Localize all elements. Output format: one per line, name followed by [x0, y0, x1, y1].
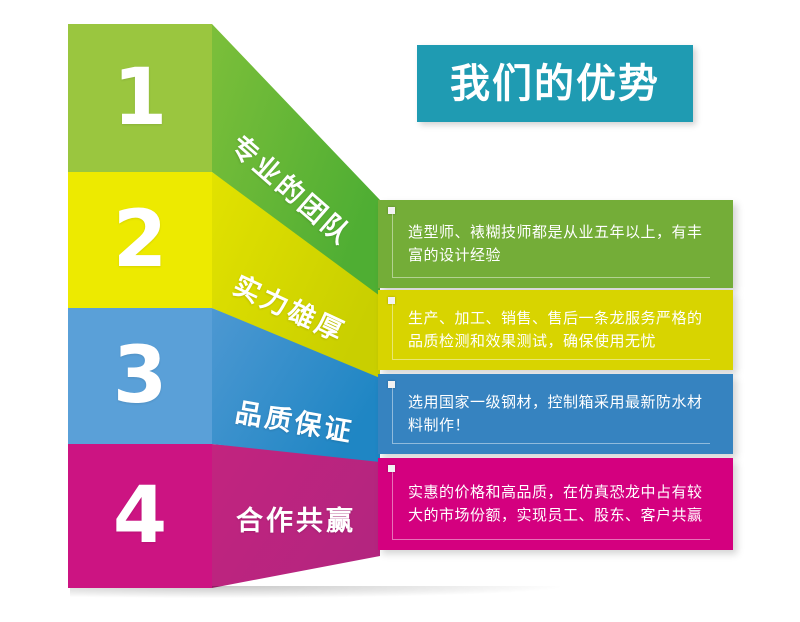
info-box-2[interactable]: 生产、加工、销售、售后一条龙服务严格的品质检测和效果测试，确保使用无忧 [378, 290, 733, 370]
page-title: 我们的优势 [450, 64, 660, 104]
step-number-1: 1 [113, 59, 167, 137]
ribbon-caption-1: 专业的团队 [223, 125, 362, 253]
info-box-3[interactable]: 选用国家一级钢材，控制箱采用最新防水材料制作！ [378, 374, 733, 454]
step-block-4[interactable]: 4 [68, 444, 212, 588]
step-block-1[interactable]: 1 [68, 24, 212, 172]
bullet-dot-icon [388, 381, 395, 388]
title-banner: 我们的优势 [417, 45, 693, 122]
step-block-3[interactable]: 3 [68, 308, 212, 444]
step-number-3: 3 [113, 337, 167, 415]
info-box-1[interactable]: 造型师、裱糊技师都是从业五年以上，有丰富的设计经验 [378, 200, 733, 288]
ribbon-caption-4: 合作共赢 [236, 499, 356, 538]
step-number-2: 2 [113, 201, 167, 279]
info-box-4[interactable]: 实惠的价格和高品质，在仿真恐龙中占有较大的市场份额，实现员工、股东、客户共赢 [378, 458, 733, 550]
ribbon-caption-3: 品质保证 [233, 390, 358, 449]
bullet-dot-icon [388, 465, 395, 472]
info-text-2: 生产、加工、销售、售后一条龙服务严格的品质检测和效果测试，确保使用无忧 [408, 307, 711, 354]
step-number-4: 4 [113, 477, 167, 555]
ribbon-caption-2: 实力雄厚 [228, 264, 353, 350]
info-text-4: 实惠的价格和高品质，在仿真恐龙中占有较大的市场份额，实现员工、股东、客户共赢 [408, 481, 711, 528]
bullet-dot-icon [388, 207, 395, 214]
info-text-3: 选用国家一级钢材，控制箱采用最新防水材料制作！ [408, 391, 711, 438]
step-block-2[interactable]: 2 [68, 172, 212, 308]
infographic-canvas: 1 2 3 4 专业的团队 实力雄厚 品质保证 合作共赢 我们的优势 造型师、裱… [0, 0, 800, 622]
info-text-1: 造型师、裱糊技师都是从业五年以上，有丰富的设计经验 [408, 221, 711, 268]
bullet-dot-icon [388, 297, 395, 304]
